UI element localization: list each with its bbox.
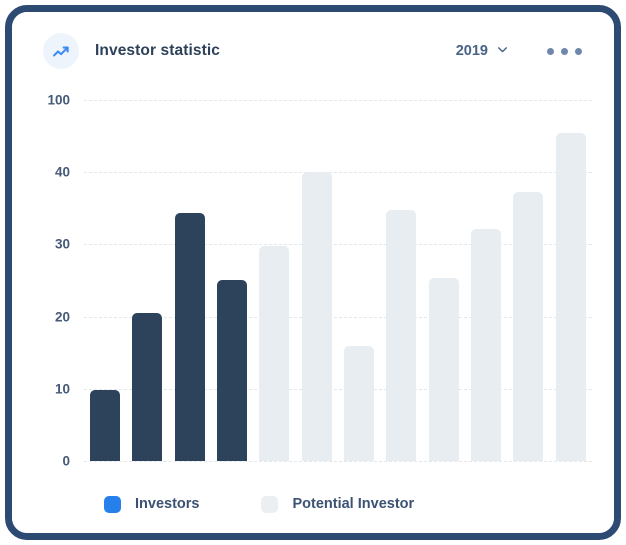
kebab-dot — [547, 48, 554, 55]
chart-plot-area: 100403020100 — [12, 90, 614, 475]
trending-up-icon — [43, 33, 79, 69]
y-axis-tick-label: 30 — [55, 237, 70, 252]
chevron-down-icon — [496, 43, 509, 60]
kebab-menu-icon[interactable] — [547, 48, 582, 55]
legend-item[interactable]: Investors — [104, 496, 199, 513]
bar-investors[interactable] — [132, 313, 162, 461]
chart-bars — [84, 90, 592, 475]
y-axis-tick-label: 40 — [55, 165, 70, 180]
bar-investors[interactable] — [217, 280, 247, 461]
year-dropdown[interactable]: 2019 — [456, 43, 509, 60]
y-axis-tick-label: 20 — [55, 309, 70, 324]
year-dropdown-value: 2019 — [456, 43, 488, 59]
kebab-dot — [575, 48, 582, 55]
legend-swatch — [104, 496, 121, 513]
bar-potential-investor[interactable] — [259, 246, 289, 461]
page-title: Investor statistic — [95, 42, 220, 60]
bar-investors[interactable] — [175, 213, 205, 461]
bar-potential-investor[interactable] — [302, 172, 332, 461]
investor-statistic-card: Investor statistic 2019 100403020100 — [12, 12, 614, 533]
y-axis-tick-label: 0 — [62, 454, 70, 469]
kebab-dot — [561, 48, 568, 55]
y-axis-tick-label: 10 — [55, 381, 70, 396]
chart-legend: InvestorsPotential Investor — [12, 475, 614, 533]
bar-potential-investor[interactable] — [471, 229, 501, 461]
bar-potential-investor[interactable] — [513, 192, 543, 461]
bar-potential-investor[interactable] — [344, 346, 374, 461]
bar-potential-investor[interactable] — [429, 278, 459, 461]
legend-swatch — [261, 496, 278, 513]
bar-investors[interactable] — [90, 390, 120, 461]
outer-frame: Investor statistic 2019 100403020100 — [5, 5, 621, 540]
card-header: Investor statistic 2019 — [12, 12, 614, 90]
legend-label: Potential Investor — [292, 496, 414, 512]
legend-label: Investors — [135, 496, 199, 512]
bar-potential-investor[interactable] — [556, 133, 586, 462]
y-axis: 100403020100 — [12, 90, 84, 475]
bar-potential-investor[interactable] — [386, 210, 416, 461]
legend-item[interactable]: Potential Investor — [261, 496, 414, 513]
y-axis-tick-label: 100 — [47, 93, 70, 108]
